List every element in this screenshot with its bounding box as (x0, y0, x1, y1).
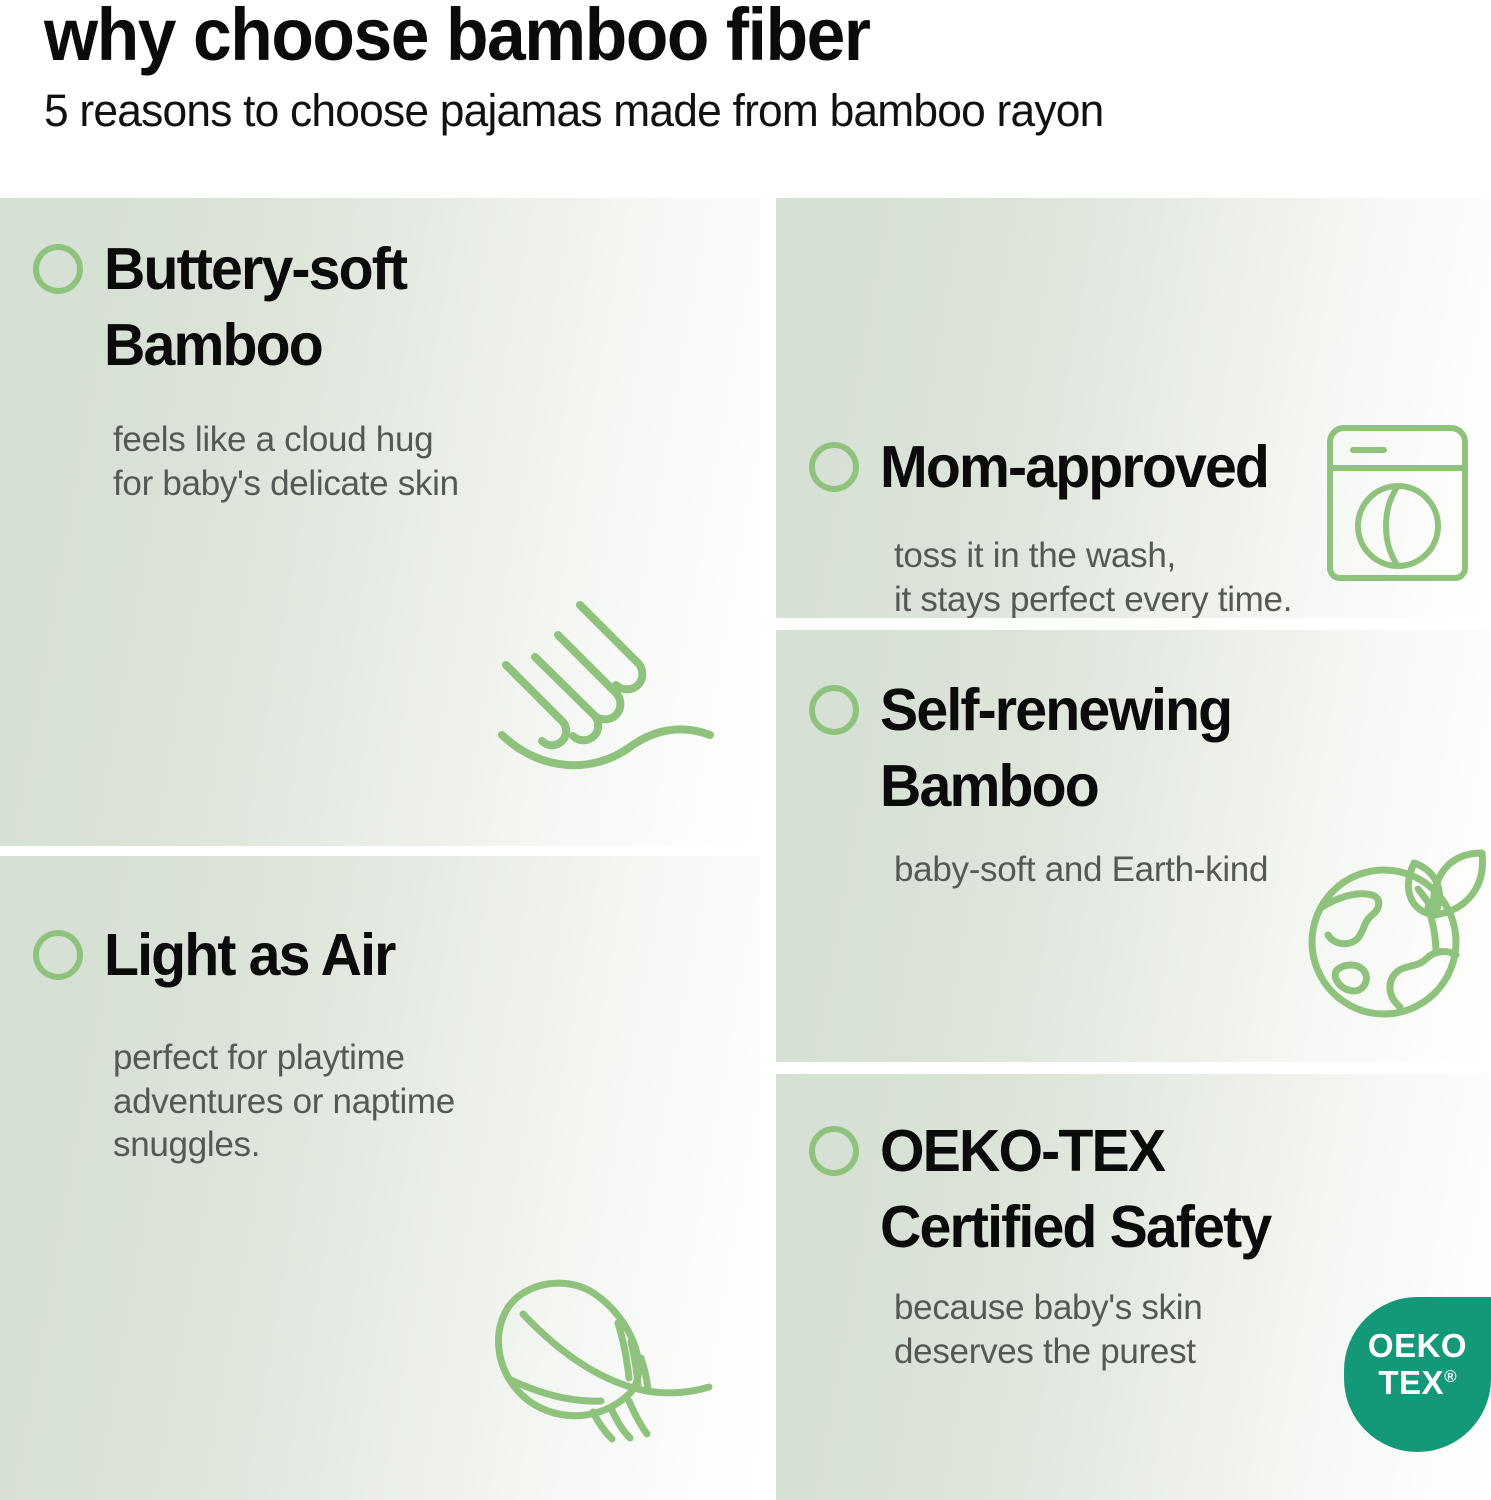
card-title: Buttery-soft Bamboo (104, 232, 406, 383)
card-buttery-soft-bamboo: Buttery-soft Bamboo feels like a cloud h… (0, 198, 760, 846)
card-header: Light as Air (33, 918, 404, 994)
card-header: OEKO-TEX Certified Safety (809, 1114, 1282, 1265)
card-self-renewing-bamboo: Self-renewing Bamboo baby-soft and Earth… (776, 630, 1491, 1062)
circle-outline-icon (809, 685, 859, 735)
oeko-tex-badge-icon: OEKOTEX® (1344, 1297, 1491, 1452)
card-body-text: because baby's skin deserves the purest (894, 1286, 1202, 1373)
card-light-as-air: Light as Air perfect for playtime advent… (0, 856, 760, 1500)
oeko-tex-badge-line1: OEKO (1368, 1327, 1467, 1364)
card-title: Self-renewing Bamboo (880, 673, 1231, 824)
hand-touch-fabric-icon (490, 595, 720, 780)
circle-outline-icon (33, 930, 83, 980)
card-mom-approved: Mom-approved toss it in the wash, it sta… (776, 198, 1491, 618)
circle-outline-icon (809, 1126, 859, 1176)
page-subtitle: 5 reasons to choose pajamas made from ba… (44, 88, 1103, 133)
page-title: why choose bamboo fiber (44, 0, 870, 72)
oeko-tex-badge-label: OEKOTEX® (1344, 1328, 1491, 1402)
registered-mark-icon: ® (1444, 1367, 1457, 1386)
card-title: Mom-approved (880, 430, 1268, 506)
circle-outline-icon (809, 442, 859, 492)
card-body-text: feels like a cloud hug for baby's delica… (113, 418, 459, 505)
card-header: Buttery-soft Bamboo (33, 232, 416, 383)
feather-icon (481, 1246, 716, 1451)
circle-outline-icon (33, 244, 83, 294)
card-title: OEKO-TEX Certified Safety (880, 1114, 1270, 1265)
card-body-text: toss it in the wash, it stays perfect ev… (894, 534, 1292, 618)
card-body-text: baby-soft and Earth-kind (894, 848, 1268, 892)
card-header: Self-renewing Bamboo (809, 673, 1242, 824)
oeko-tex-badge-line2: TEX (1378, 1364, 1444, 1401)
card-body-text: perfect for playtime adventures or napti… (113, 1036, 455, 1167)
header: why choose bamboo fiber 5 reasons to cho… (0, 0, 1491, 198)
card-title: Light as Air (104, 918, 395, 994)
card-header: Mom-approved (809, 430, 1280, 506)
